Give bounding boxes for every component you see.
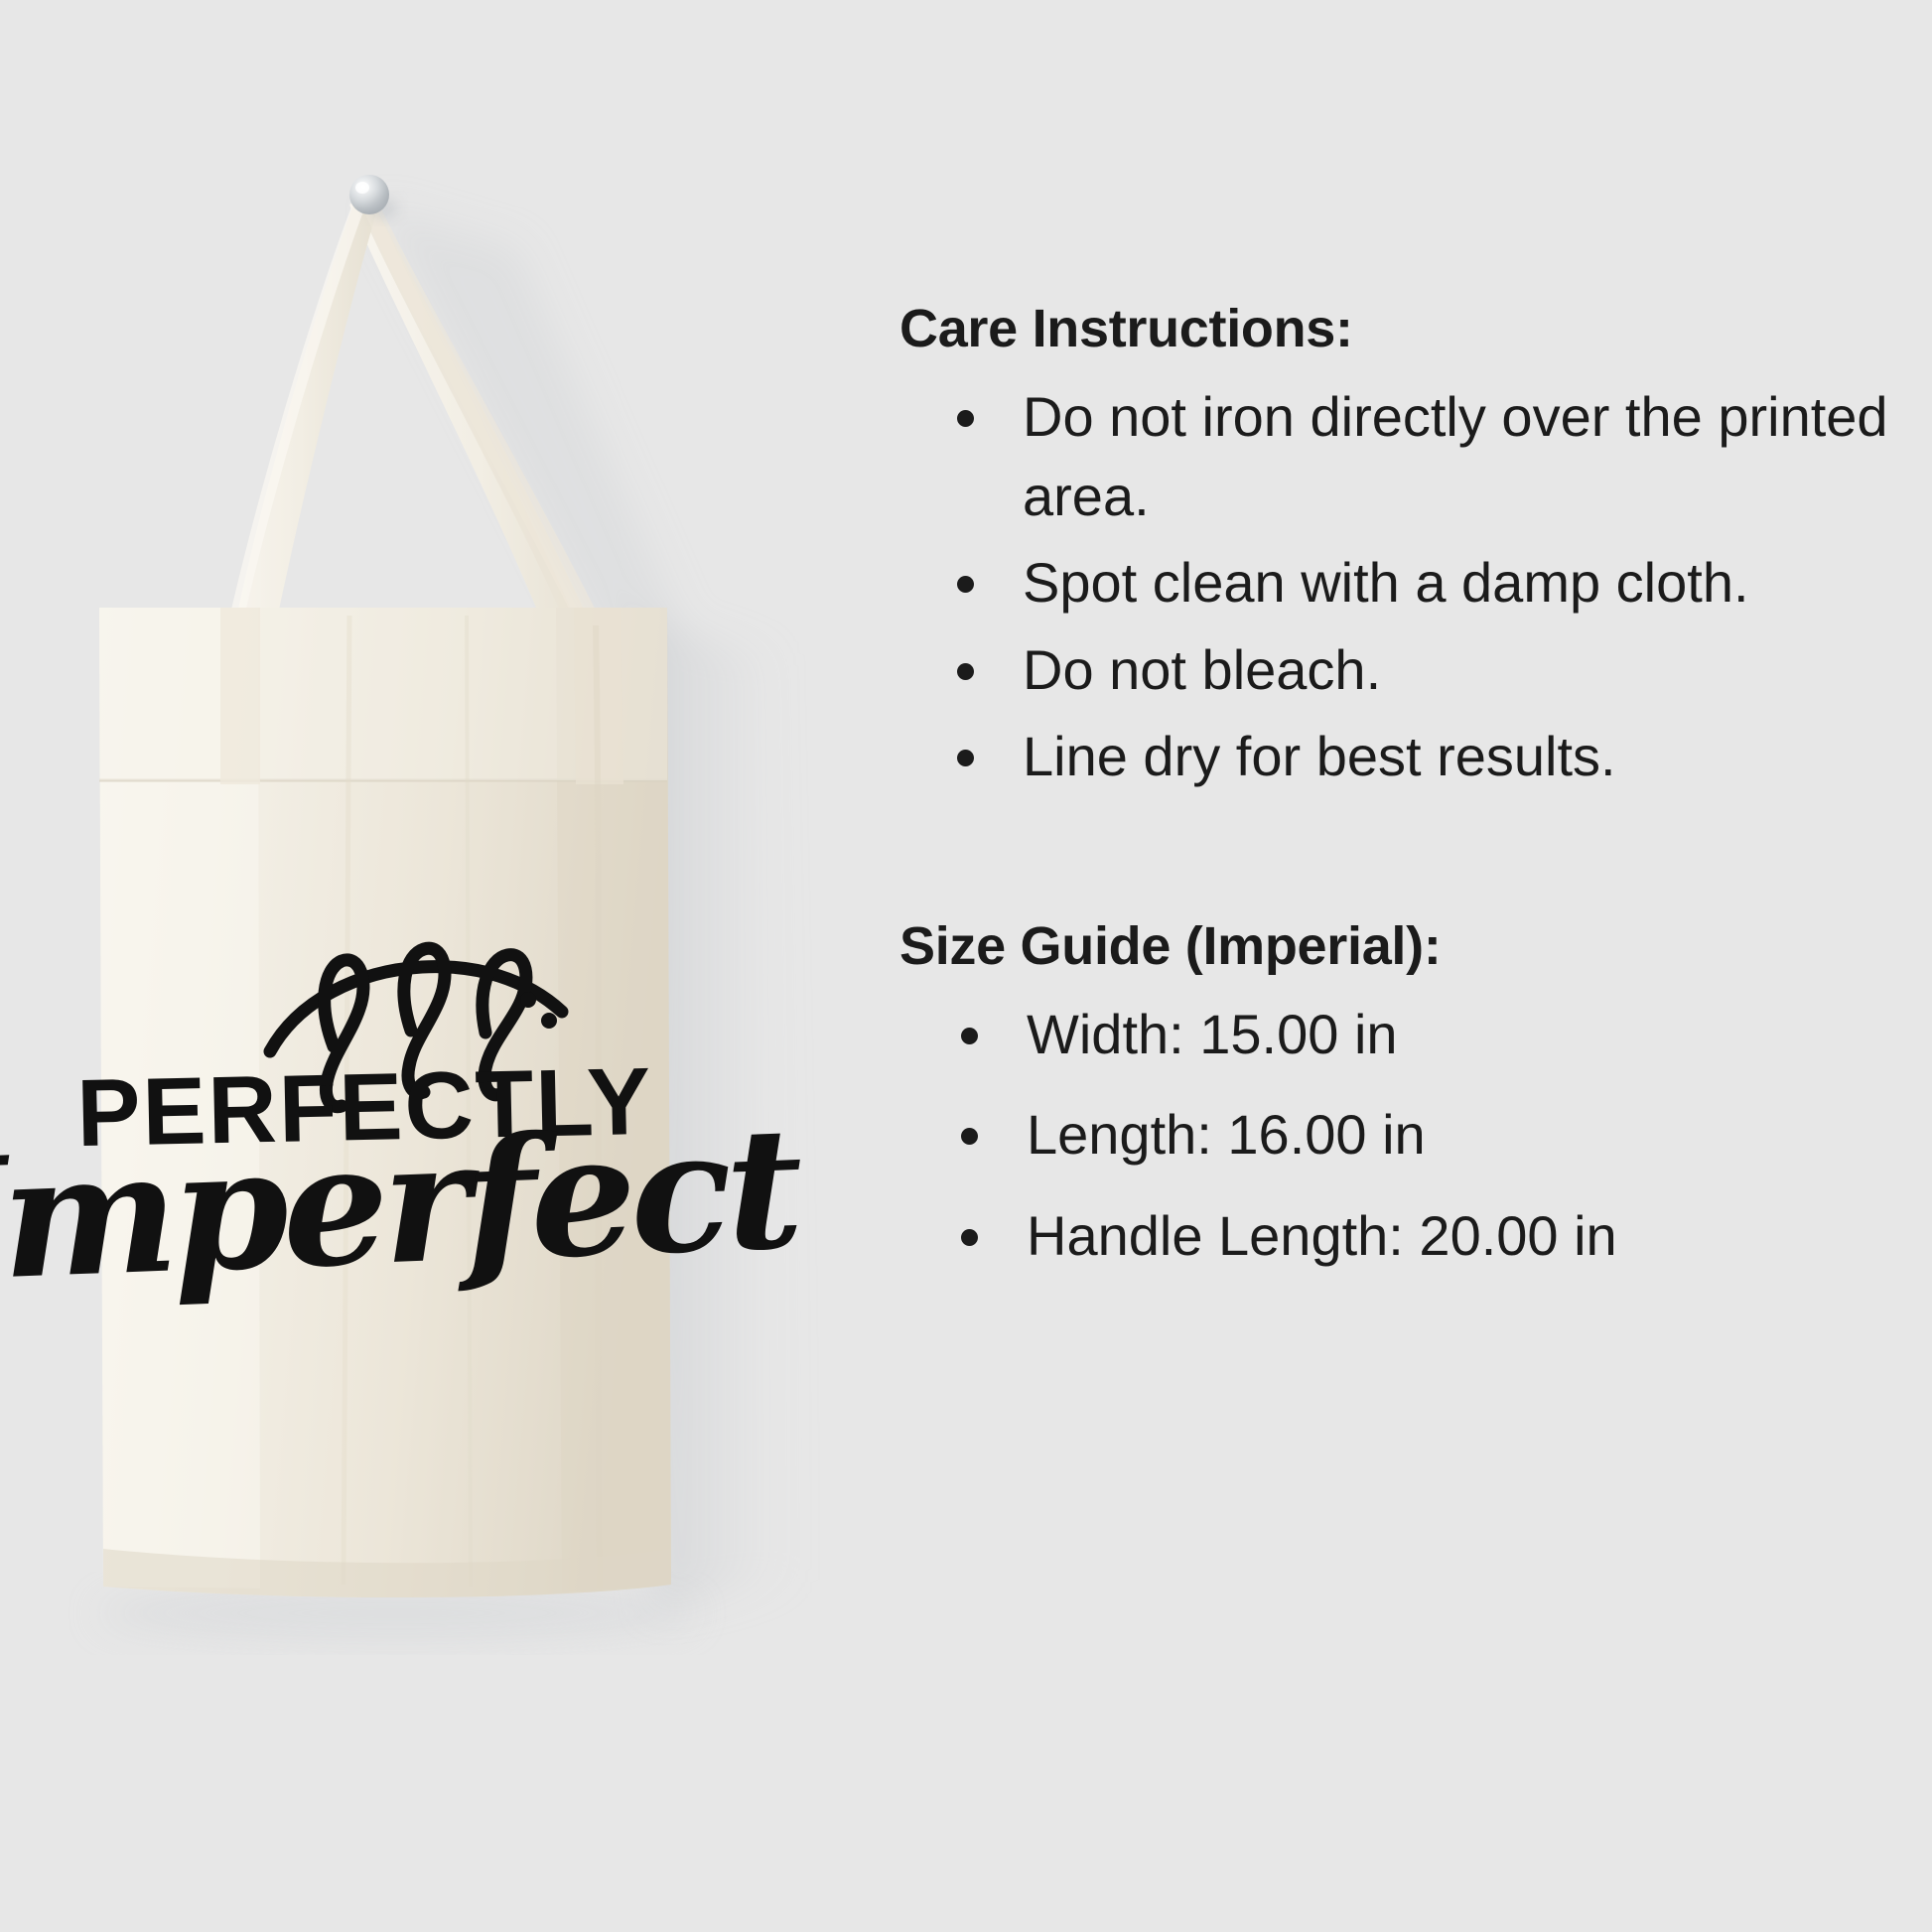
list-item: Handle Length: 20.00 in xyxy=(899,1196,1902,1276)
product-details-panel: Care Instructions: Do not iron directly … xyxy=(899,298,1902,1297)
bullet-icon xyxy=(957,663,974,680)
care-item-text: Do not bleach. xyxy=(1023,630,1902,710)
ornament-dot-2 xyxy=(541,1013,557,1029)
care-instructions-heading: Care Instructions: xyxy=(899,298,1902,359)
size-item-handle-length: Handle Length: 20.00 in xyxy=(1027,1196,1902,1276)
list-item: Spot clean with a damp cloth. xyxy=(899,543,1902,622)
size-guide-list: Width: 15.00 in Length: 16.00 in Handle … xyxy=(899,995,1902,1276)
bullet-icon xyxy=(961,1229,978,1246)
size-guide-heading: Size Guide (Imperial): xyxy=(899,915,1902,977)
list-item: Do not iron directly over the printed ar… xyxy=(899,377,1902,535)
care-instructions-section: Care Instructions: Do not iron directly … xyxy=(899,298,1902,796)
list-item: Line dry for best results. xyxy=(899,717,1902,796)
product-listing-image: PERFECTLY Imperfect Care Instructions: D… xyxy=(0,0,1932,1932)
size-item-length: Length: 16.00 in xyxy=(1027,1095,1902,1174)
list-item: Do not bleach. xyxy=(899,630,1902,710)
print-line-imperfect: Imperfect xyxy=(0,1089,805,1319)
list-item: Width: 15.00 in xyxy=(899,995,1902,1074)
care-item-text: Spot clean with a damp cloth. xyxy=(1023,543,1902,622)
care-item-text: Do not iron directly over the printed ar… xyxy=(1023,377,1902,535)
list-item: Length: 16.00 in xyxy=(899,1095,1902,1174)
svg-text:Imperfect: Imperfect xyxy=(0,1089,805,1319)
bullet-icon xyxy=(961,1128,978,1145)
tote-bag-product-photo: PERFECTLY Imperfect xyxy=(0,0,854,1932)
bullet-icon xyxy=(957,576,974,593)
size-guide-section: Size Guide (Imperial): Width: 15.00 in L… xyxy=(899,915,1902,1276)
bullet-icon xyxy=(961,1028,978,1044)
care-item-text: Line dry for best results. xyxy=(1023,717,1902,796)
size-item-width: Width: 15.00 in xyxy=(1027,995,1902,1074)
care-instructions-list: Do not iron directly over the printed ar… xyxy=(899,377,1902,796)
bullet-icon xyxy=(957,750,974,766)
ornament-dot-1 xyxy=(520,992,536,1008)
bullet-icon xyxy=(957,410,974,427)
